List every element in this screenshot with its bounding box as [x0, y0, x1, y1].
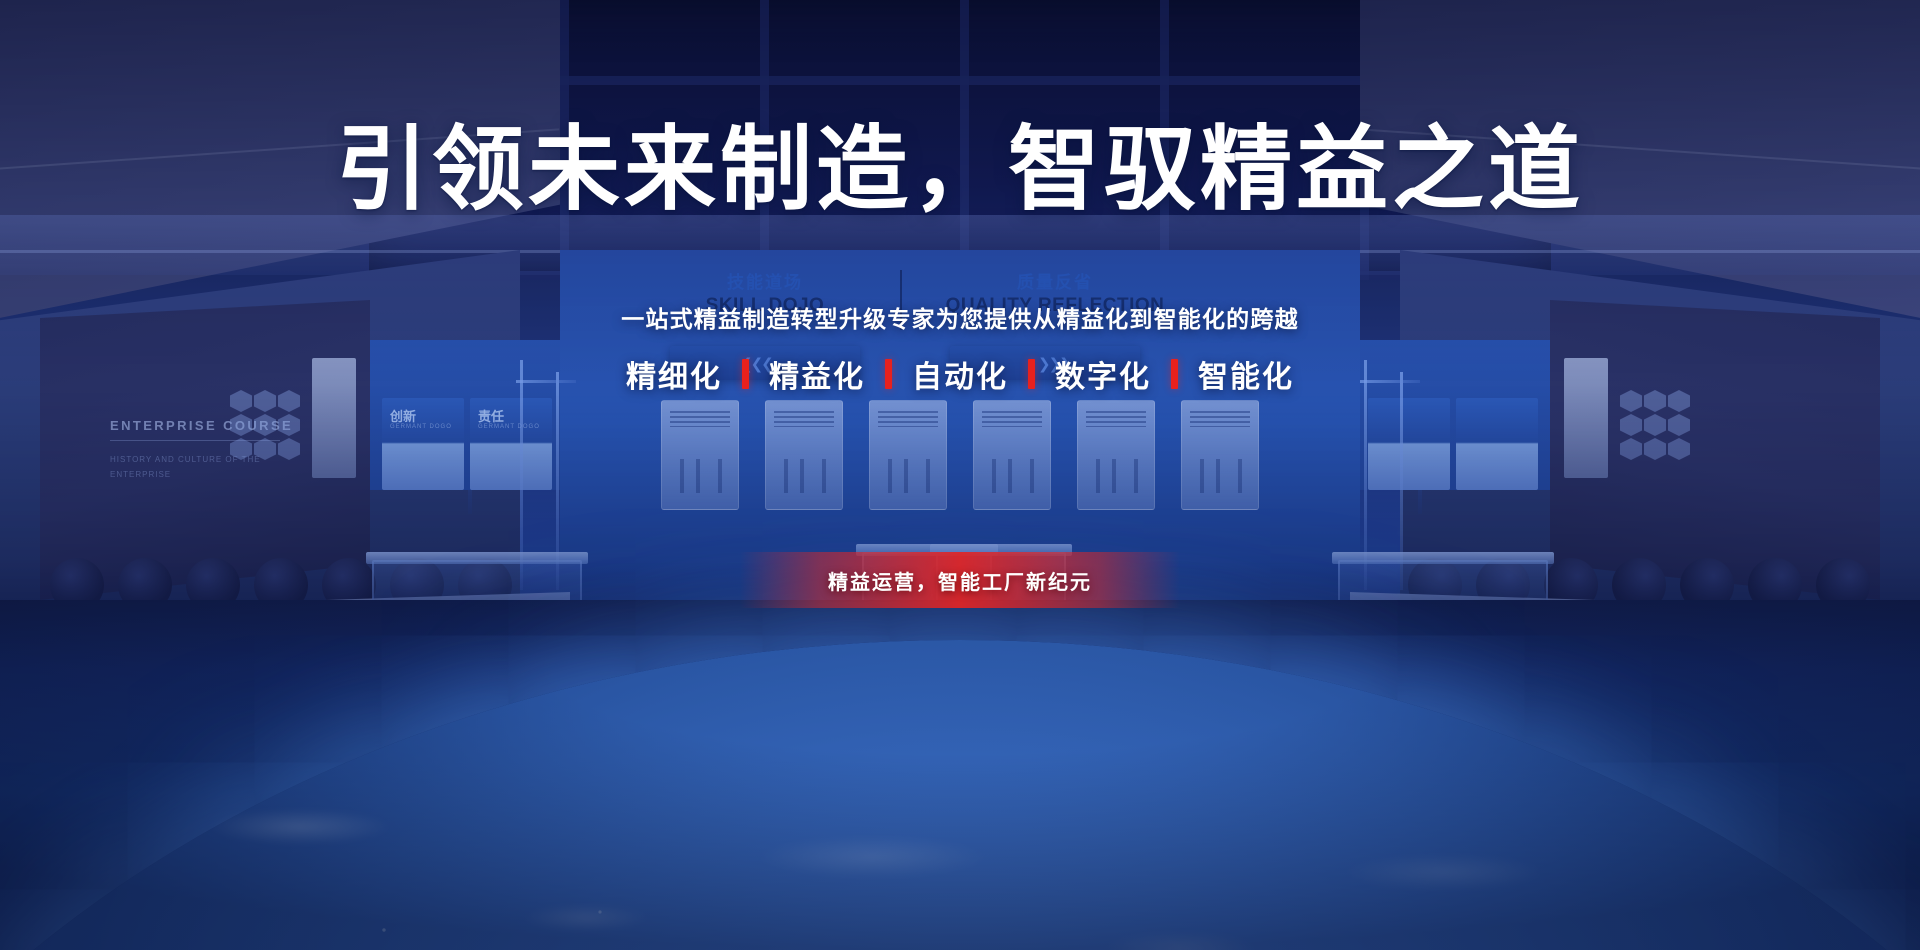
keyword-separator-bar — [885, 359, 892, 389]
keyword-separator-bar — [1028, 359, 1035, 389]
keyword-item: 数字化 — [1055, 352, 1151, 396]
keyword-separator-bar — [1171, 359, 1178, 389]
keyword-list: 精细化 精益化 自动化 数字化 智能化 — [0, 352, 1920, 396]
hero-headline: 引领未来制造，智驭精益之道 — [0, 120, 1920, 221]
tagline-ribbon: 精益运营，智能工厂新纪元 — [740, 552, 1180, 608]
keyword-item: 精益化 — [769, 352, 865, 396]
hero-content: 引领未来制造，智驭精益之道 一站式精益制造转型升级专家为您提供从精益化到智能化的… — [0, 0, 1920, 950]
keyword-item: 自动化 — [912, 352, 1008, 396]
keyword-item: 精细化 — [626, 352, 722, 396]
hero-subtitle: 一站式精益制造转型升级专家为您提供从精益化到智能化的跨越 — [0, 300, 1920, 334]
keyword-item: 智能化 — [1198, 352, 1294, 396]
keyword-separator-bar — [742, 359, 749, 389]
hero-banner: 技能道场 SKILL DOJO 质量反省 QUALITY REFLECTION … — [0, 0, 1920, 950]
tagline-text: 精益运营，智能工厂新纪元 — [828, 566, 1092, 595]
